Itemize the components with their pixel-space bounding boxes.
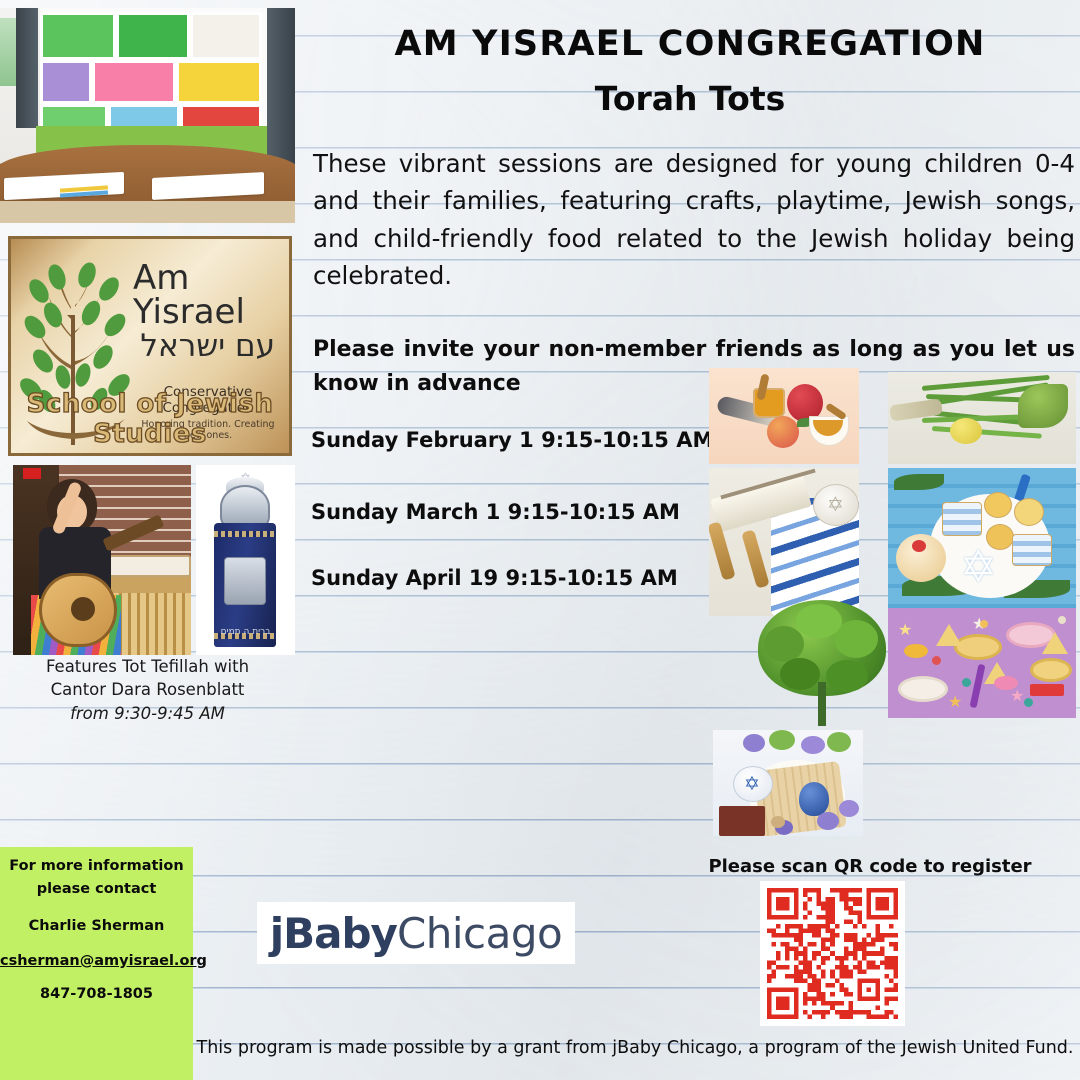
jbaby-chicago-logo: jBabyChicago <box>257 902 575 964</box>
caption-line-3: from 9:30-9:45 AM <box>0 702 295 725</box>
contact-name: Charlie Sherman <box>0 915 193 938</box>
qr-code-container[interactable] <box>760 881 905 1026</box>
grant-footer-text: This program is made possible by a grant… <box>190 1038 1080 1058</box>
jbaby-brand-bold: jBaby <box>270 909 397 958</box>
jbaby-brand-light: Chicago <box>397 909 562 958</box>
torah-scroll-tallit-photo: ✡ <box>709 468 859 616</box>
qr-instruction-label: Please scan QR code to register <box>660 856 1080 877</box>
caption-line-1: Features Tot Tefillah with <box>0 655 295 678</box>
contact-line-2: please contact <box>0 878 193 901</box>
rosh-hashanah-shofar-honey-photo <box>709 368 859 464</box>
contact-line-1: For more information <box>0 855 193 878</box>
purim-masks-photo: ★ ★ ★ ★ <box>888 608 1076 718</box>
logo-hebrew-name: עם ישראל <box>133 331 283 362</box>
contact-info-box: For more information please contact Char… <box>0 847 193 1080</box>
qr-code-image[interactable] <box>767 888 898 1019</box>
cantor-with-guitar-photo <box>13 465 191 655</box>
torah-scroll-photo: ✡ ברית ה תמים <box>196 465 295 655</box>
organization-title: AM YISRAEL CONGREGATION <box>300 24 1080 64</box>
program-title: Torah Tots <box>300 80 1080 118</box>
contact-phone: 847-708-1805 <box>0 983 193 1006</box>
logo-name: Am Yisrael <box>133 261 283 329</box>
classroom-children-photo <box>0 8 295 223</box>
intro-paragraph: These vibrant sessions are designed for … <box>313 145 1075 295</box>
caption-line-2: Cantor Dara Rosenblatt <box>0 678 295 701</box>
sukkot-lulav-etrog-photo <box>888 372 1076 464</box>
cantor-caption: Features Tot Tefillah with Cantor Dara R… <box>0 655 295 725</box>
page-header: AM YISRAEL CONGREGATION Torah Tots <box>300 24 1080 118</box>
session-date-2: Sunday March 1 9:15-10:15 AM <box>311 500 680 524</box>
session-date-1: Sunday February 1 9:15-10:15 AM <box>311 428 713 452</box>
logo-school-text: School of Jewish Studies <box>11 389 289 449</box>
hanukkah-cookies-photo: ✡ <box>888 468 1076 616</box>
tu-bishvat-tree-photo <box>752 596 892 728</box>
session-date-3: Sunday April 19 9:15-10:15 AM <box>311 566 678 590</box>
passover-seder-photo: ✡ <box>713 730 863 836</box>
contact-email-link[interactable]: csherman@amyisrael.org <box>0 953 193 969</box>
am-yisrael-logo: Am Yisrael עם ישראל Conservative Congreg… <box>8 236 292 456</box>
